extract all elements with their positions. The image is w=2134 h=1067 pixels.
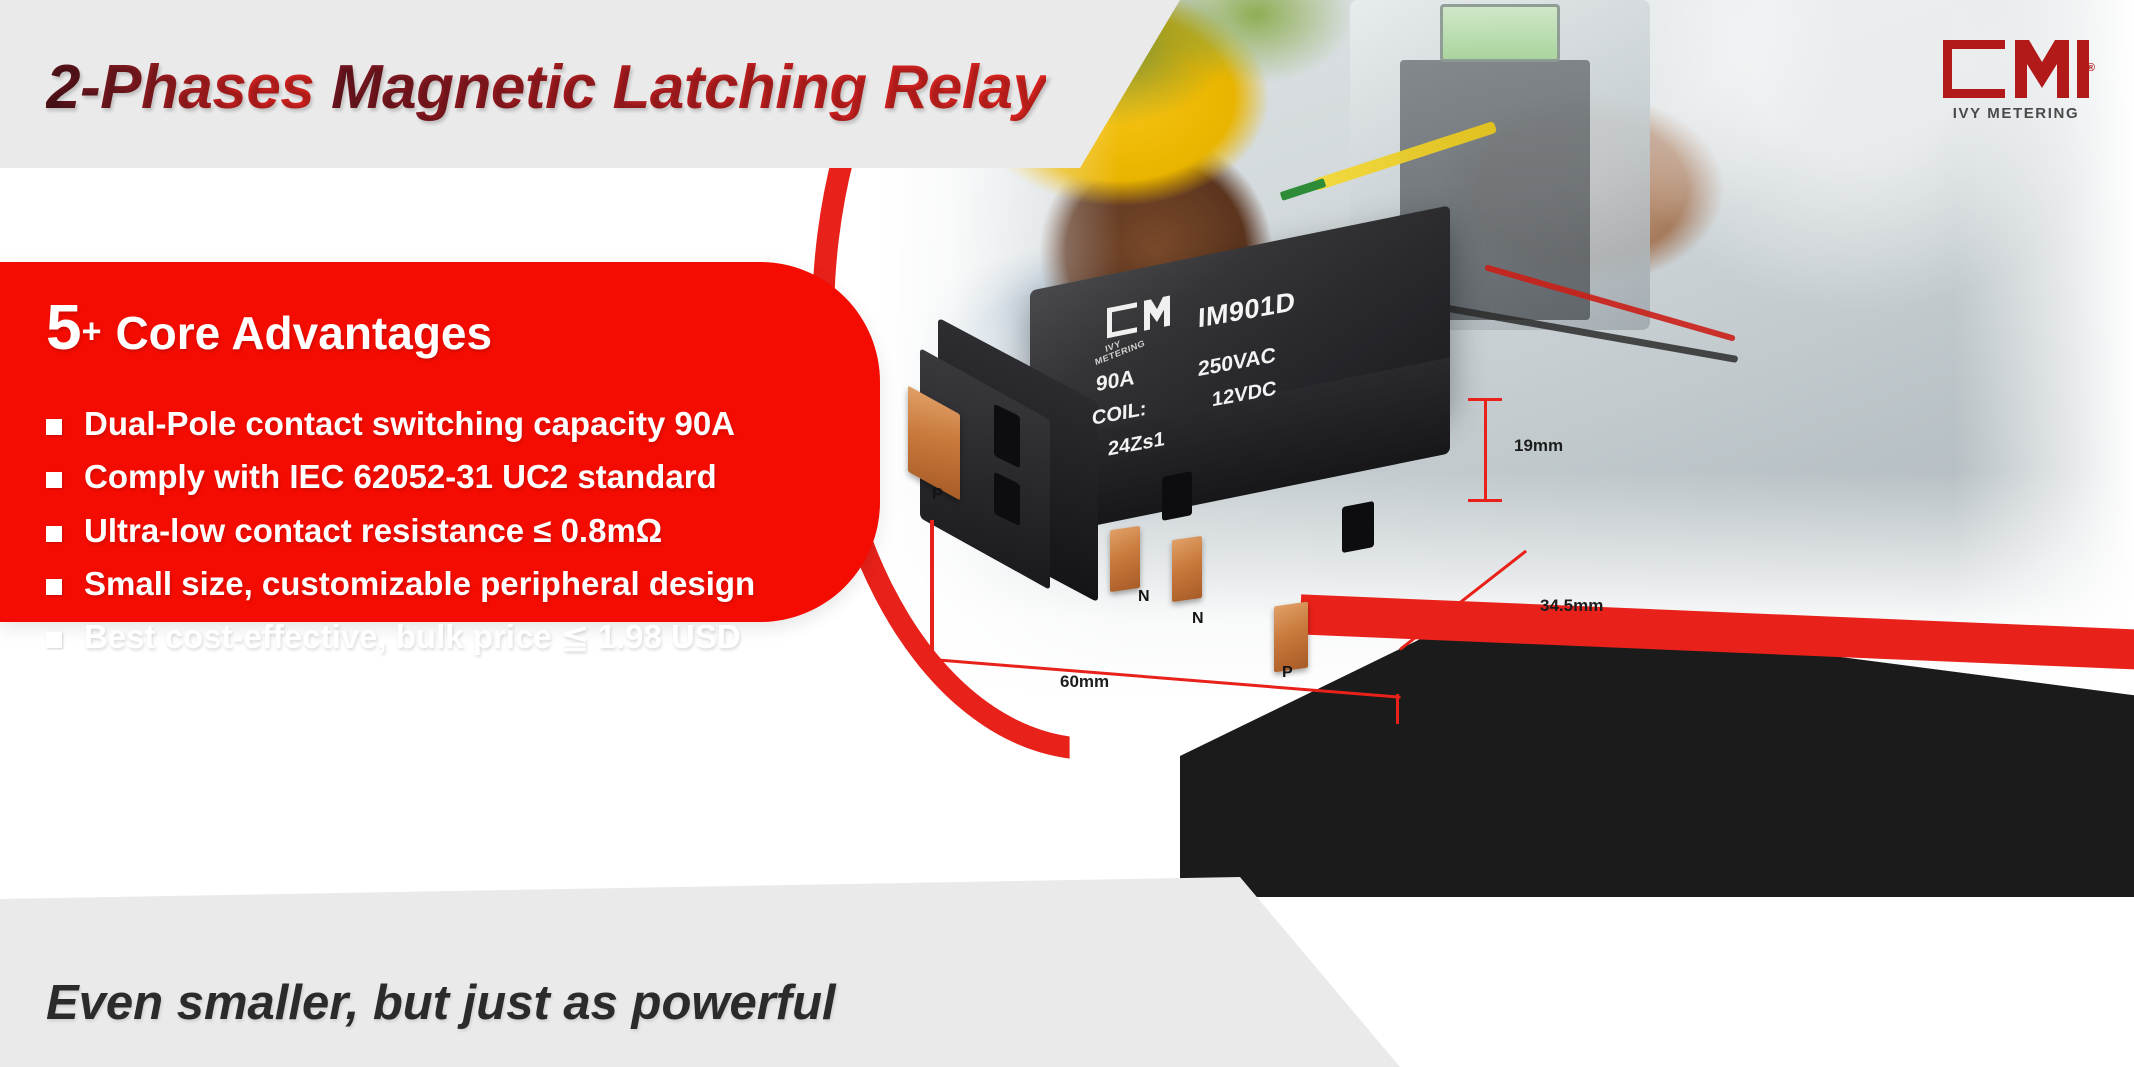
list-item: Ultra-low contact resistance ≤ 0.8mΩ	[46, 513, 846, 549]
list-item: Comply with IEC 62052-31 UC2 standard	[46, 459, 846, 495]
square-bullet-icon	[46, 632, 62, 648]
list-item: Dual-Pole contact switching capacity 90A	[46, 406, 846, 442]
copper-terminal-n2	[1172, 536, 1202, 602]
meter-display-icon	[1440, 4, 1560, 62]
dim-label-height: 19mm	[1514, 436, 1563, 456]
title-strong: 2-Phases	[46, 53, 314, 122]
dim-tick-height-top	[1468, 398, 1502, 401]
list-item: Small size, customizable peripheral desi…	[46, 566, 846, 602]
relay-notch	[1342, 501, 1374, 553]
title-light: Magnetic Latching Relay	[331, 53, 1046, 122]
copper-terminal-n1	[1110, 526, 1140, 592]
dim-guide-left-vertical	[930, 520, 934, 660]
im-monogram-logo-icon: ®	[1941, 38, 2091, 100]
background-grey-bottom	[0, 877, 1400, 1067]
brand-logo: ® IVY METERING	[1920, 38, 2112, 142]
copper-terminal-p-right	[1274, 602, 1308, 673]
terminal-marker-p2: P	[1282, 664, 1293, 682]
square-bullet-icon	[46, 579, 62, 595]
terminal-marker-n1: N	[1138, 588, 1150, 606]
brand-logo-text: IVY METERING	[1953, 105, 2079, 122]
tagline: Even smaller, but just as powerful	[46, 975, 836, 1031]
advantage-text: Comply with IEC 62052-31 UC2 standard	[84, 459, 717, 495]
advantage-text: Ultra-low contact resistance ≤ 0.8mΩ	[84, 513, 662, 549]
list-item: Best cost-effective, bulk price ≦ 1.98 U…	[46, 619, 846, 655]
banner-stage: 2-Phases Magnetic Latching Relay ® IVY M…	[0, 0, 2134, 1067]
advantage-text: Best cost-effective, bulk price ≦ 1.98 U…	[84, 619, 741, 655]
square-bullet-icon	[46, 419, 62, 435]
relay-notch	[1162, 471, 1192, 521]
terminal-marker-p1: P	[932, 486, 943, 504]
terminal-marker-n2: N	[1192, 610, 1204, 628]
advantage-text: Dual-Pole contact switching capacity 90A	[84, 406, 735, 442]
dim-line-height	[1484, 398, 1487, 502]
dim-tick-height-bottom	[1468, 499, 1502, 502]
square-bullet-icon	[46, 472, 62, 488]
advantages-count-superscript: +	[82, 313, 102, 351]
dim-label-length: 60mm	[1060, 672, 1109, 692]
advantages-heading: 5+Core Advantages	[46, 290, 492, 364]
dim-tick-length-right	[1396, 694, 1399, 724]
relay-product-image: IVY METERING IM901D 90A 250VAC COIL: 12V…	[890, 232, 1530, 672]
square-bullet-icon	[46, 526, 62, 542]
page-title: 2-Phases Magnetic Latching Relay	[46, 52, 1046, 123]
advantage-text: Small size, customizable peripheral desi…	[84, 566, 755, 602]
advantages-count: 5	[46, 291, 82, 363]
dim-label-depth: 34.5mm	[1540, 596, 1603, 616]
advantages-list: Dual-Pole contact switching capacity 90A…	[46, 406, 846, 672]
advantages-heading-label: Core Advantages	[115, 307, 492, 359]
registered-mark-icon: ®	[2087, 62, 2095, 74]
